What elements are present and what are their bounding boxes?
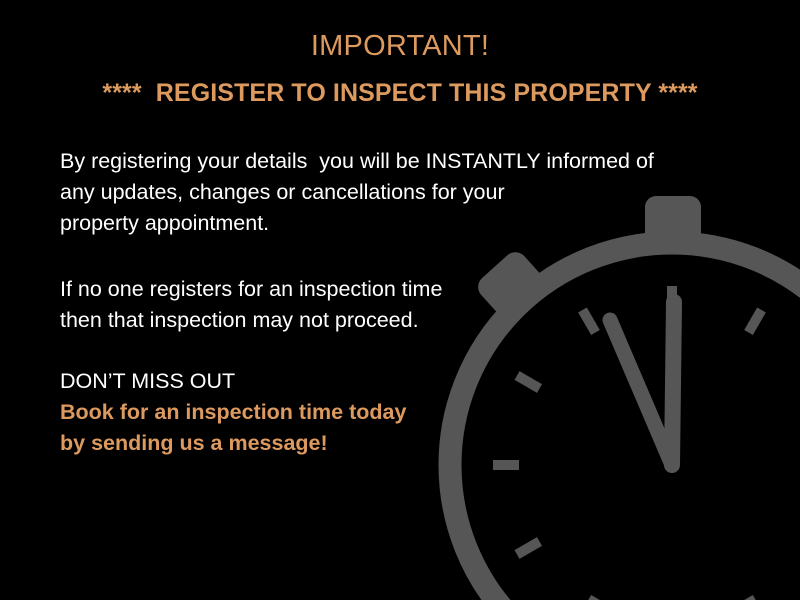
paragraph-line: any updates, changes or cancellations fo… — [60, 177, 654, 208]
send-message-line: by sending us a message! — [60, 428, 406, 459]
paragraph-call-to-action: DON’T MISS OUT Book for an inspection ti… — [60, 366, 406, 459]
dont-miss-out-line: DON’T MISS OUT — [60, 366, 406, 397]
paragraph-line: By registering your details you will be … — [60, 146, 654, 177]
paragraph-registering-details: By registering your details you will be … — [60, 146, 654, 239]
text-layer: IMPORTANT! **** REGISTER TO INSPECT THIS… — [0, 0, 800, 600]
book-inspection-line: Book for an inspection time today — [60, 397, 406, 428]
paragraph-line: then that inspection may not proceed. — [60, 305, 442, 336]
paragraph-no-registration-warning: If no one registers for an inspection ti… — [60, 274, 442, 336]
slide-canvas: IMPORTANT! **** REGISTER TO INSPECT THIS… — [0, 0, 800, 600]
headline-register-to-inspect: **** REGISTER TO INSPECT THIS PROPERTY *… — [0, 78, 800, 108]
paragraph-line: If no one registers for an inspection ti… — [60, 274, 442, 305]
headline-important: IMPORTANT! — [0, 29, 800, 63]
paragraph-line: property appointment. — [60, 208, 654, 239]
